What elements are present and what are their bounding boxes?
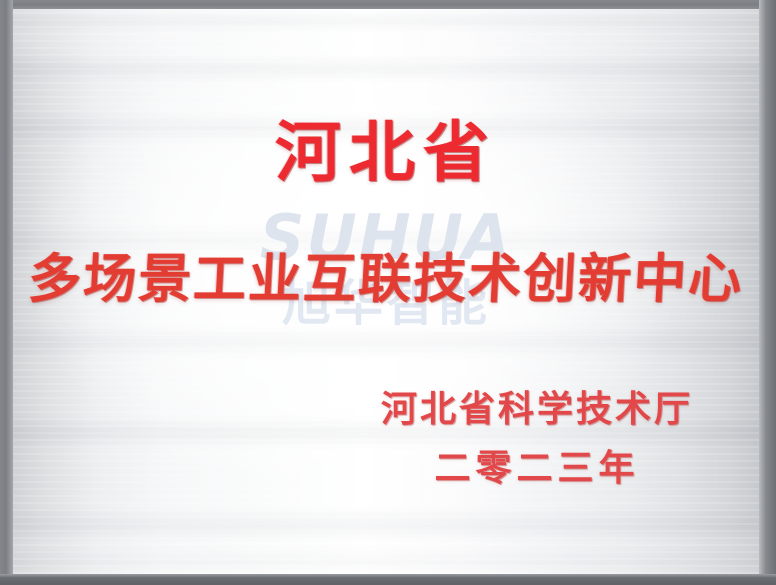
plaque-bevel-right bbox=[759, 0, 776, 585]
award-plaque: SUHUA 旭华智能 河北省 多场景工业互联技术创新中心 河北省科学技术厅 二零… bbox=[0, 0, 776, 585]
plaque-bevel-left bbox=[0, 0, 13, 585]
plaque-inscription: 河北省 多场景工业互联技术创新中心 河北省科学技术厅 二零二三年 bbox=[13, 9, 759, 574]
plaque-issuer-name: 河北省科学技术厅 bbox=[381, 387, 693, 432]
plaque-face: SUHUA 旭华智能 河北省 多场景工业互联技术创新中心 河北省科学技术厅 二零… bbox=[13, 9, 759, 574]
plaque-issuer-block: 河北省科学技术厅 二零二三年 bbox=[381, 387, 693, 491]
plaque-bevel-top bbox=[0, 0, 776, 9]
plaque-bevel-bottom bbox=[0, 574, 776, 585]
plaque-year: 二零二三年 bbox=[381, 446, 693, 491]
plaque-subtitle: 多场景工业互联技术创新中心 bbox=[13, 237, 759, 313]
plaque-title: 河北省 bbox=[13, 99, 759, 195]
